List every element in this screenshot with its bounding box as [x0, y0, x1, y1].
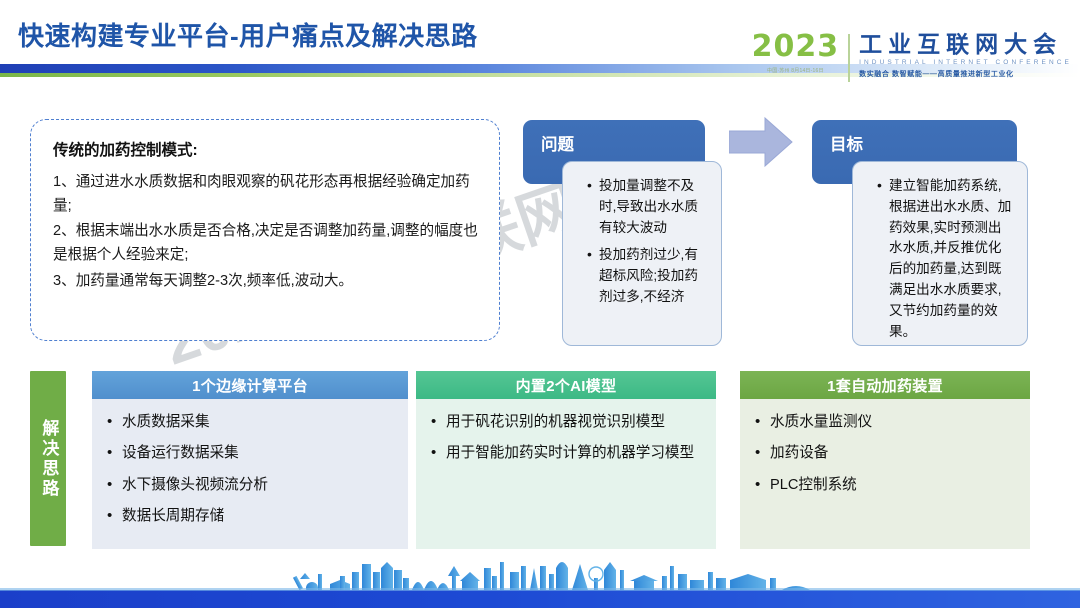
- logo-name-cn: 工业互联网大会: [859, 32, 1072, 56]
- column-header: 内置2个AI模型: [416, 371, 716, 399]
- logo-name-en: INDUSTRIAL INTERNET CONFERENCE: [859, 59, 1072, 66]
- list-item: 水质水量监测仪: [754, 412, 1020, 433]
- list-item: 建立智能加药系统,根据进出水水质、加药效果,实时预测出水水质,并反推优化后的加药…: [878, 176, 1015, 342]
- conference-logo: 2023 中国·苏州 8月14日-16日 工业互联网大会 INDUSTRIAL …: [752, 32, 1072, 84]
- problem-card-body: 投加量调整不及时,导致出水水质有较大波动 投加药剂过少,有超标风险;投加药剂过多…: [562, 161, 722, 346]
- list-item: 水下摄像头视频流分析: [106, 475, 398, 496]
- solution-sidebar-text: 解决思路: [38, 419, 59, 499]
- right-arrow-icon: [729, 116, 793, 168]
- logo-tagline: 数实融合 数智赋能——高质量推进新型工业化: [859, 69, 1072, 79]
- page-title: 快速构建专业平台-用户痛点及解决思路: [18, 16, 478, 53]
- problem-list: 投加量调整不及时,导致出水水质有较大波动 投加药剂过少,有超标风险;投加药剂过多…: [573, 176, 709, 308]
- traditional-mode-line: 1、通过进水水质数据和肉眼观察的矾花形态再根据经验确定加药量;: [53, 171, 479, 218]
- goal-list: 建立智能加药系统,根据进出水水质、加药效果,实时预测出水水质,并反推优化后的加药…: [863, 176, 1015, 342]
- column-list: 水质数据采集 设备运行数据采集 水下摄像头视频流分析 数据长周期存储: [106, 412, 398, 527]
- column-body: 水质数据采集 设备运行数据采集 水下摄像头视频流分析 数据长周期存储: [92, 399, 408, 549]
- column-header: 1套自动加药装置: [740, 371, 1030, 399]
- solution-sidebar-label: 解决思路: [30, 371, 66, 546]
- traditional-mode-line: 3、加药量通常每天调整2-3次,频率低,波动大。: [53, 270, 479, 294]
- solution-column-edge-platform: 1个边缘计算平台 水质数据采集 设备运行数据采集 水下摄像头视频流分析 数据长周…: [92, 371, 408, 549]
- problem-card-title: 问题: [541, 131, 574, 155]
- logo-year-subtitle: 中国·苏州 8月14日-16日: [767, 67, 824, 74]
- list-item: 数据长周期存储: [106, 506, 398, 527]
- solution-column-ai-models: 内置2个AI模型 用于矾花识别的机器视觉识别模型 用于智能加药实时计算的机器学习…: [416, 371, 716, 549]
- traditional-mode-title: 传统的加药控制模式:: [53, 138, 479, 160]
- column-header: 1个边缘计算平台: [92, 371, 408, 399]
- list-item: 投加量调整不及时,导致出水水质有较大波动: [588, 176, 709, 238]
- solution-column-dosing-device: 1套自动加药装置 水质水量监测仪 加药设备 PLC控制系统: [740, 371, 1030, 549]
- logo-text-block: 工业互联网大会 INDUSTRIAL INTERNET CONFERENCE 数…: [859, 32, 1072, 79]
- column-body: 水质水量监测仪 加药设备 PLC控制系统: [740, 399, 1030, 549]
- list-item: PLC控制系统: [754, 475, 1020, 496]
- list-item: 加药设备: [754, 443, 1020, 464]
- list-item: 用于智能加药实时计算的机器学习模型: [430, 443, 706, 464]
- traditional-mode-line: 2、根据末端出水水质是否合格,决定是否调整加药量,调整的幅度也是根据个人经验来定…: [53, 220, 479, 267]
- logo-year: 2023: [752, 32, 840, 62]
- logo-divider: [848, 34, 850, 82]
- logo-year-block: 2023 中国·苏州 8月14日-16日: [752, 32, 849, 74]
- goal-card-title: 目标: [830, 131, 863, 155]
- list-item: 用于矾花识别的机器视觉识别模型: [430, 412, 706, 433]
- list-item: 水质数据采集: [106, 412, 398, 433]
- goal-card-body: 建立智能加药系统,根据进出水水质、加药效果,实时预测出水水质,并反推优化后的加药…: [852, 161, 1028, 346]
- list-item: 设备运行数据采集: [106, 443, 398, 464]
- traditional-mode-box: 传统的加药控制模式: 1、通过进水水质数据和肉眼观察的矾花形态再根据经验确定加药…: [30, 119, 500, 341]
- list-item: 投加药剂过少,有超标风险;投加药剂过多,不经济: [588, 245, 709, 307]
- slide-canvas: 快速构建专业平台-用户痛点及解决思路 2023 中国·苏州 8月14日-16日 …: [0, 0, 1080, 608]
- column-list: 用于矾花识别的机器视觉识别模型 用于智能加药实时计算的机器学习模型: [430, 412, 706, 465]
- column-list: 水质水量监测仪 加药设备 PLC控制系统: [754, 412, 1020, 496]
- column-body: 用于矾花识别的机器视觉识别模型 用于智能加药实时计算的机器学习模型: [416, 399, 716, 549]
